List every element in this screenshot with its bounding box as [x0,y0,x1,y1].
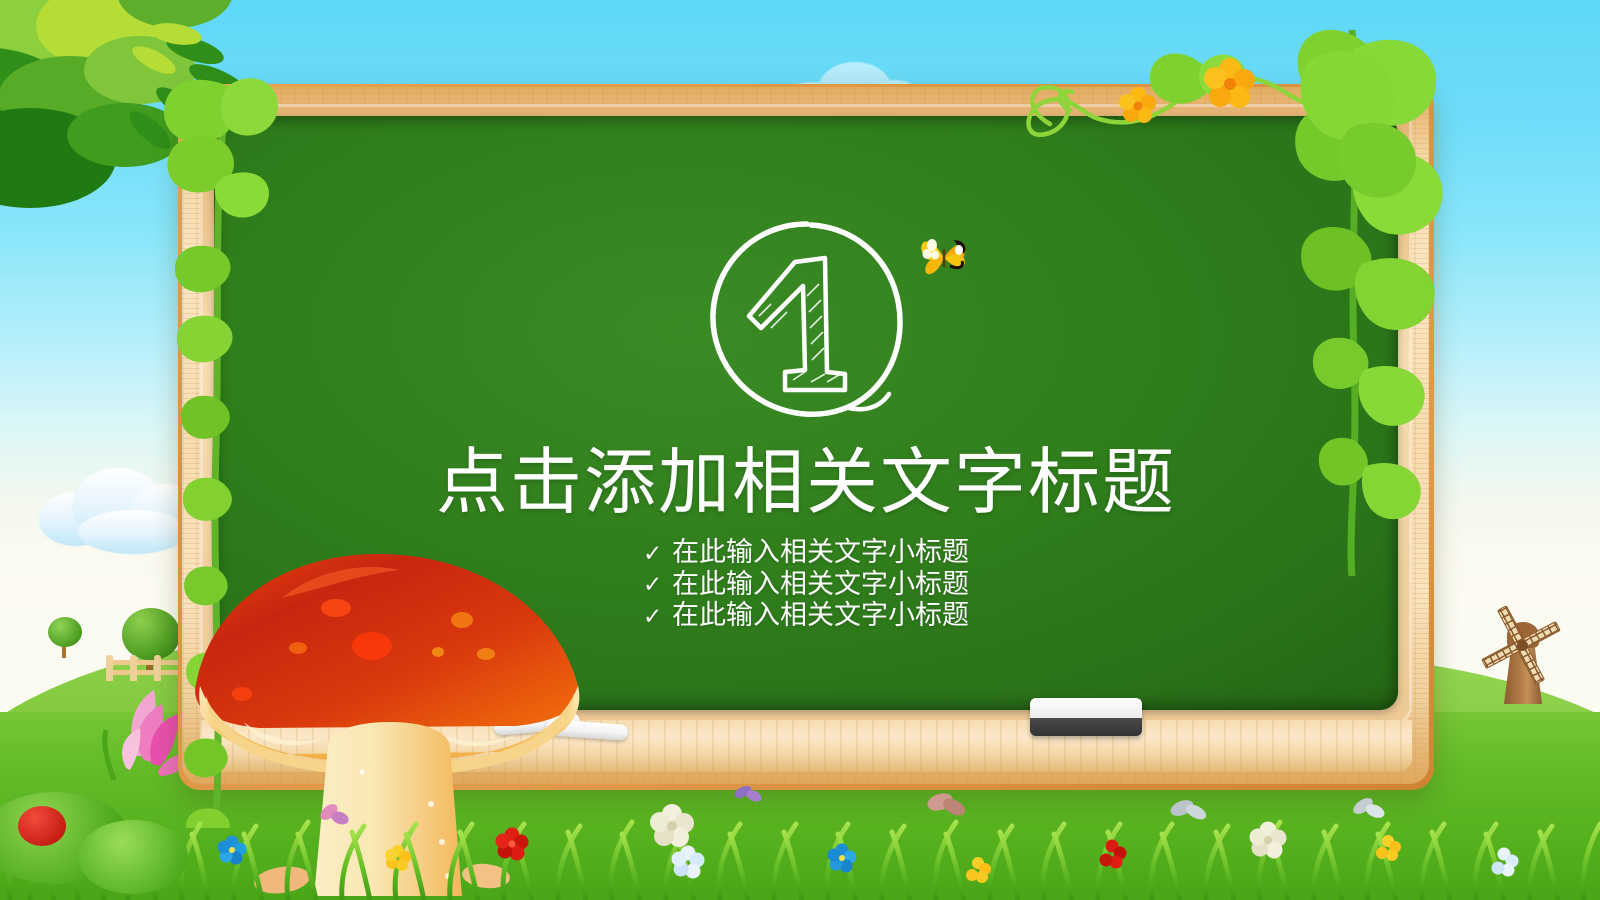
list-item-label: 在此输入相关文字小标题 [672,600,969,632]
step-number-badge [699,212,914,427]
check-icon: ✓ [643,603,661,630]
bullet-list: ✓ 在此输入相关文字小标题 ✓ 在此输入相关文字小标题 ✓ 在此输入相关文字小标… [643,537,969,632]
berry-icon [18,806,66,846]
grass-strip [0,778,1600,900]
check-icon: ✓ [643,540,661,567]
small-butterfly-icon [925,790,968,819]
small-tree-icon [48,617,82,647]
list-item-label: 在此输入相关文字小标题 [672,537,969,569]
page-title: 点击添加相关文字标题 [214,445,1398,521]
small-butterfly-icon [1351,795,1387,821]
list-item: ✓ 在此输入相关文字小标题 [643,537,969,569]
small-butterfly-icon [1168,797,1208,822]
shrub-icon [78,820,188,894]
list-item-label: 在此输入相关文字小标题 [672,569,969,601]
medium-tree-icon [122,608,180,660]
list-item: ✓ 在此输入相关文字小标题 [643,569,969,601]
small-butterfly-icon [317,801,350,827]
small-butterfly-icon [733,784,764,804]
grass-flowers [76,784,1519,883]
slide-canvas: 点击添加相关文字标题 ✓ 在此输入相关文字小标题 ✓ 在此输入相关文字小标题 ✓… [0,0,1600,900]
eraser-icon[interactable] [1030,698,1142,736]
check-icon: ✓ [643,571,661,598]
list-item: ✓ 在此输入相关文字小标题 [643,600,969,632]
butterfly-icon [914,228,972,286]
windmill-icon [1467,596,1577,706]
